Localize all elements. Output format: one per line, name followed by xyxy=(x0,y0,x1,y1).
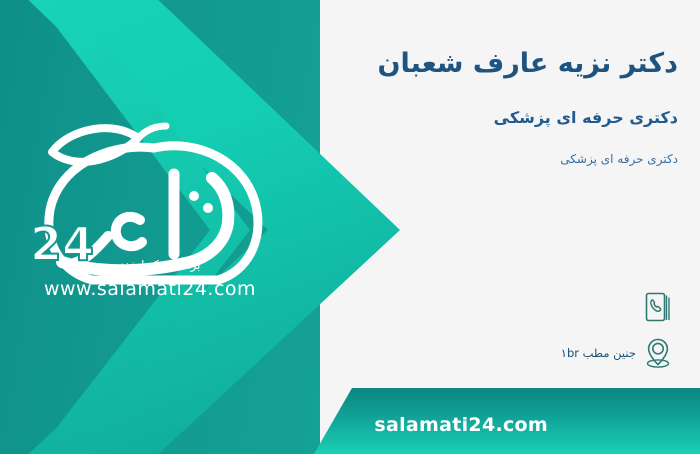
contact-block: جنین مطب ۱br xyxy=(557,286,680,378)
specialty-main: دکتری حرفه ای پزشکی xyxy=(494,108,678,127)
doctor-name: دکتر نزیه عارف شعبان xyxy=(377,48,678,79)
logo-tagline: براحتی یک لبخند xyxy=(60,258,260,272)
contact-address-value: جنین مطب ۱br xyxy=(557,346,636,360)
contact-row-address[interactable]: جنین مطب ۱br xyxy=(557,332,680,374)
specialty-sub: دکتری حرفه ای پزشکی xyxy=(560,152,678,166)
phone-book-icon xyxy=(636,286,680,328)
doctor-profile-card: 24 براحتی یک لبخند www.salamati24.com دک… xyxy=(0,0,700,454)
logo-url: www.salamati24.com xyxy=(30,278,270,300)
location-pin-icon xyxy=(636,332,680,374)
contact-row-phone[interactable] xyxy=(557,286,680,328)
footer-website[interactable]: salamati24.com xyxy=(374,414,548,436)
